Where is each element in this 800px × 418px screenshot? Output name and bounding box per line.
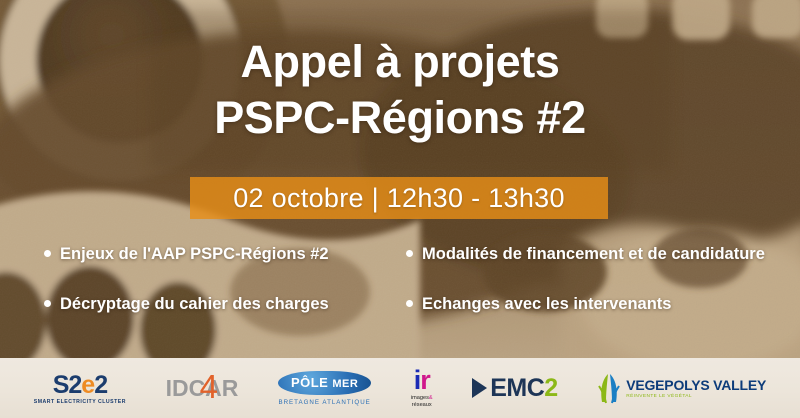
pole-mer-part-b: MER: [332, 378, 358, 390]
list-item: Modalités de financement et de candidatu…: [406, 243, 766, 265]
logo-emc2: EMC2: [472, 374, 557, 403]
ir-tagline-line1: images: [411, 395, 429, 401]
s2e2-part-b: 2: [94, 371, 107, 399]
vegepolys-text-block: VEGEPOLYS VALLEY RÉINVENTE LE VÉGÉTAL: [626, 378, 766, 399]
id4car-digit: 4: [200, 370, 218, 403]
pole-mer-tagline: BRETAGNE ATLANTIQUE: [278, 399, 370, 406]
agenda-item-label: Décryptage du cahier des charges: [60, 293, 404, 315]
agenda-right-column: Modalités de financement et de candidatu…: [406, 243, 766, 343]
title-line-1: Appel à projets: [0, 34, 800, 90]
bullet-dot-icon: [44, 250, 51, 257]
bullet-dot-icon: [406, 250, 413, 257]
vegepolys-wordmark: VEGEPOLYS VALLEY: [626, 378, 766, 393]
logo-id4car: IDCAR 4: [166, 375, 239, 402]
pole-mer-badge: PÔLE MER: [278, 371, 371, 395]
logo-vegepolys-valley: VEGEPOLYS VALLEY RÉINVENTE LE VÉGÉTAL: [597, 372, 766, 404]
pole-mer-part-a: PÔLE: [291, 375, 328, 390]
bullet-dot-icon: [44, 300, 51, 307]
ir-monogram: ir: [414, 368, 430, 393]
logo-s2e2: S2e2 SMART ELECTRICITY CLUSTER: [34, 372, 126, 405]
s2e2-tagline: SMART ELECTRICITY CLUSTER: [34, 399, 126, 405]
page-title: Appel à projets PSPC-Régions #2: [0, 34, 800, 146]
s2e2-part-e: e: [81, 371, 94, 399]
agenda-item-label: Enjeux de l'AAP PSPC-Régions #2: [60, 243, 404, 265]
s2e2-part-a: S2: [53, 371, 82, 399]
id4car-part-a: ID: [166, 375, 189, 402]
title-line-2: PSPC-Régions #2: [0, 90, 800, 146]
logo-pole-mer: PÔLE MER BRETAGNE ATLANTIQUE: [278, 371, 371, 406]
emc2-part-b: 2: [544, 374, 557, 402]
list-item: Enjeux de l'AAP PSPC-Régions #2: [44, 243, 404, 265]
list-item: Décryptage du cahier des charges: [44, 293, 404, 315]
agenda-left-column: Enjeux de l'AAP PSPC-Régions #2 Décrypta…: [44, 243, 404, 343]
agenda-item-label: Echanges avec les intervenants: [422, 293, 766, 315]
ir-tagline: images& réseaux: [411, 395, 433, 409]
agenda-item-label: Modalités de financement et de candidatu…: [422, 243, 766, 265]
partner-logo-bar: S2e2 SMART ELECTRICITY CLUSTER IDCAR 4 P…: [0, 358, 800, 418]
vegepolys-tagline: RÉINVENTE LE VÉGÉTAL: [626, 394, 766, 399]
bullet-dot-icon: [406, 300, 413, 307]
vegepolys-leaf-icon: [597, 372, 621, 404]
date-time-text: 02 octobre | 12h30 - 13h30: [233, 183, 565, 213]
emc2-part-a: EMC: [490, 374, 544, 402]
date-banner: 02 octobre | 12h30 - 13h30: [190, 177, 608, 219]
ir-tagline-amp: &: [429, 395, 433, 401]
list-item: Echanges avec les intervenants: [406, 293, 766, 315]
ir-tagline-line2: réseaux: [412, 402, 432, 408]
ir-letter-r: r: [420, 365, 430, 395]
s2e2-wordmark: S2e2: [53, 372, 107, 398]
emc2-wordmark: EMC2: [490, 374, 557, 403]
logo-images-reseaux: ir images& réseaux: [411, 368, 433, 409]
emc2-triangle-icon: [472, 378, 487, 398]
